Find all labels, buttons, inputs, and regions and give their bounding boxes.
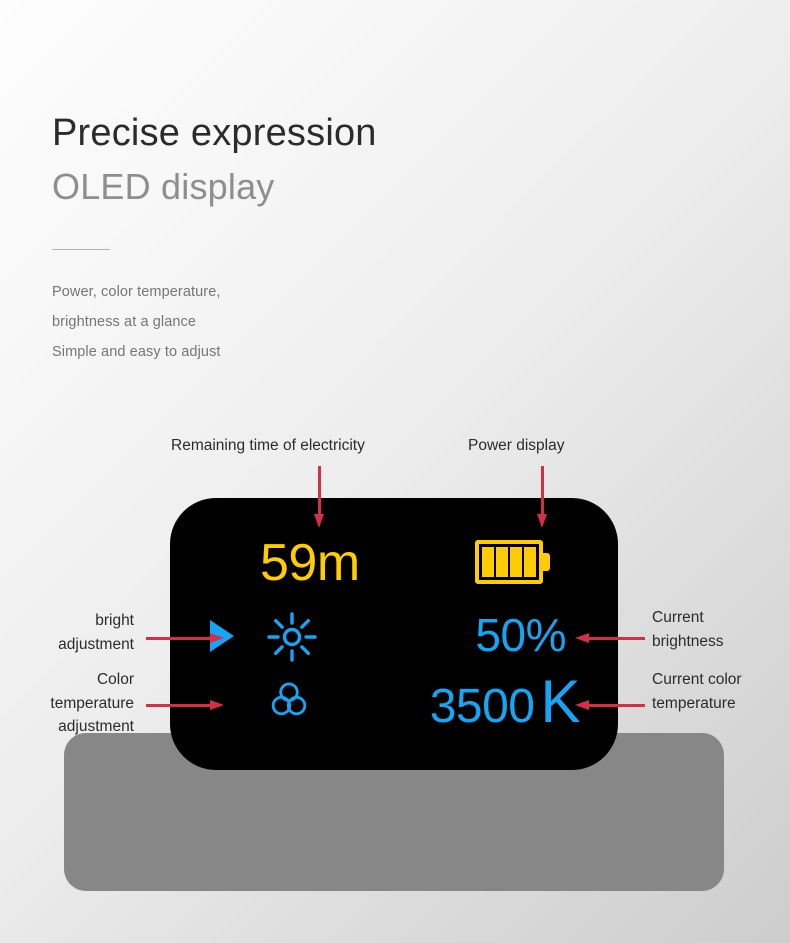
annotation-color-adjustment-line2: temperature xyxy=(0,692,134,716)
divider-rule xyxy=(52,249,110,250)
oled-row-status: 59m xyxy=(170,528,618,598)
annotation-bright-adjustment: bright adjustment xyxy=(0,609,134,656)
brightness-value: 50% xyxy=(475,604,566,666)
page-title: Precise expression xyxy=(52,112,572,156)
heading-block: Precise expression OLED display Power, c… xyxy=(52,112,572,367)
oled-row-color-temperature[interactable]: 3500K xyxy=(170,670,618,736)
annotation-color-temperature-adjustment: Color temperature adjustment xyxy=(0,668,134,739)
annotation-current-brightness: Current brightness xyxy=(652,606,724,653)
color-temperature-value: 3500K xyxy=(430,670,580,750)
battery-bar xyxy=(482,547,494,577)
page-subtitle: OLED display xyxy=(52,166,572,207)
annotation-current-color-line2: temperature xyxy=(652,692,742,716)
oled-display-panel: 59m xyxy=(170,498,618,770)
description-text: Power, color temperature, brightness at … xyxy=(52,278,572,367)
promo-page: Precise expression OLED display Power, c… xyxy=(0,0,790,943)
arrow-to-remaining-time xyxy=(314,466,325,528)
annotation-bright-adjustment-line2: adjustment xyxy=(0,633,134,657)
description-line-1: Power, color temperature, xyxy=(52,278,572,308)
sun-brightness-icon xyxy=(265,610,319,664)
color-temperature-number: 3500 xyxy=(430,680,535,733)
battery-bar xyxy=(524,547,536,577)
annotation-current-brightness-line2: brightness xyxy=(652,630,724,654)
annotation-bright-adjustment-line1: bright xyxy=(0,609,134,633)
arrow-to-current-color-temperature xyxy=(575,700,645,711)
arrow-to-current-brightness xyxy=(575,633,645,644)
oled-row-brightness[interactable]: 50% xyxy=(170,606,618,668)
battery-shell xyxy=(475,540,543,584)
annotation-power-display: Power display xyxy=(468,434,565,457)
arrow-to-power-display xyxy=(537,466,548,528)
battery-icon xyxy=(475,540,549,584)
battery-terminal xyxy=(543,553,550,571)
annotation-remaining-time: Remaining time of electricity xyxy=(171,434,365,457)
annotation-color-adjustment-line3: adjustment xyxy=(0,715,134,739)
description-line-3: Simple and easy to adjust xyxy=(52,338,572,368)
battery-bar xyxy=(510,547,522,577)
annotation-current-color-line1: Current color xyxy=(652,668,742,692)
annotation-color-adjustment-line1: Color xyxy=(0,668,134,692)
remaining-time-value: 59m xyxy=(260,528,360,598)
arrow-to-bright-adjustment xyxy=(146,633,224,644)
color-temperature-trefoil-icon xyxy=(265,678,319,732)
battery-bar xyxy=(496,547,508,577)
annotation-current-brightness-line1: Current xyxy=(652,606,724,630)
description-line-2: brightness at a glance xyxy=(52,308,572,338)
annotation-current-color-temperature: Current color temperature xyxy=(652,668,742,715)
arrow-to-color-adjustment xyxy=(146,700,224,711)
